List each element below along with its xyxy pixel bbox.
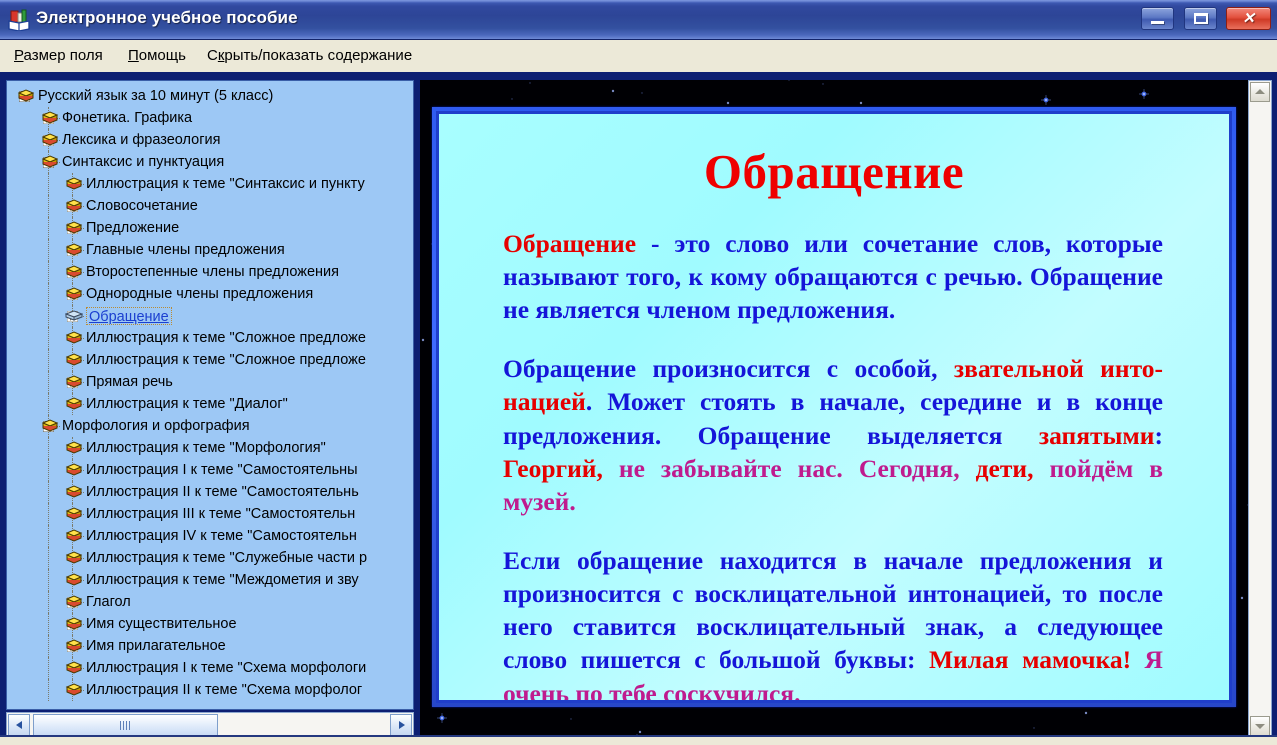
book-icon (65, 547, 83, 569)
tree-item[interactable]: Имя существительное (7, 613, 414, 635)
minimize-button[interactable] (1141, 7, 1174, 30)
tree-item-label: Второстепенные члены предложения (86, 261, 339, 283)
window-bottom-strip (0, 735, 1277, 745)
tree-item[interactable]: Иллюстрация I к теме "Схема морфологи (7, 657, 414, 679)
book-icon (41, 107, 59, 129)
tree-item-label: Иллюстрация III к теме "Самостоятельн (86, 503, 355, 525)
scroll-up-button[interactable] (1250, 82, 1270, 102)
book-icon (41, 415, 59, 437)
tree-item[interactable]: Иллюстрация к теме "Служебные части р (7, 547, 414, 569)
client-area: Русский язык за 10 минут (5 класс)Фонети… (0, 72, 1277, 745)
contents-tree: Русский язык за 10 минут (5 класс)Фонети… (7, 81, 414, 701)
book-icon (65, 503, 83, 525)
close-icon: ✕ (1227, 8, 1270, 29)
tree-item-label: Глагол (86, 591, 131, 613)
book-icon (65, 679, 83, 701)
tree-item-label: Однородные члены предложения (86, 283, 313, 305)
tree-item[interactable]: Иллюстрация к теме "Синтаксис и пункту (7, 173, 414, 195)
book-icon (65, 657, 83, 679)
scroll-down-button[interactable] (1250, 716, 1270, 736)
slide-viewport: Обращение Обращение - это слово или соче… (420, 80, 1250, 738)
tree-connector-line (48, 437, 49, 459)
tree-item[interactable]: Предложение (7, 217, 414, 239)
menu-bar: Размер поля Помощь Скрыть/показать содер… (0, 40, 1277, 72)
menu-toggle-contents[interactable]: Скрыть/показать содержание (203, 45, 416, 66)
book-icon (65, 613, 83, 635)
tree-connector-line (48, 481, 49, 503)
tree-connector-line (48, 679, 49, 701)
tree-item-label: Иллюстрация II к теме "Схема морфолог (86, 679, 362, 701)
book-icon (65, 327, 83, 349)
tree-item[interactable]: Иллюстрация к теме "Сложное предложе (7, 349, 414, 371)
slide-surface: Обращение Обращение - это слово или соче… (439, 114, 1229, 700)
tree-item-label: Иллюстрация к теме "Служебные части р (86, 547, 367, 569)
tree-item-label: Иллюстрация II к теме "Самостоятельнь (86, 481, 359, 503)
tree-connector-line (48, 503, 49, 525)
arrow-right-icon (399, 721, 405, 729)
tree-connector-line (48, 195, 49, 217)
tree-item-label: Предложение (86, 217, 179, 239)
tree-connector-line (48, 349, 49, 371)
book-icon (65, 261, 83, 283)
close-button[interactable]: ✕ (1226, 7, 1271, 30)
tree-connector-line (48, 459, 49, 481)
tree-connector-line (48, 283, 49, 305)
menu-field-size[interactable]: Размер поля (10, 45, 107, 66)
tree-connector-line (48, 613, 49, 635)
text-run-magenta: не забывайте нас. Сегодня, (603, 454, 976, 483)
book-icon (65, 569, 83, 591)
contents-tree-panel[interactable]: Русский язык за 10 минут (5 класс)Фонети… (6, 80, 414, 710)
book-icon (65, 195, 83, 217)
book-icon (17, 85, 35, 107)
open-book-icon (65, 305, 83, 327)
text-run-red: Милая ма­мочка! (929, 645, 1131, 674)
book-icon (65, 635, 83, 657)
tree-item-label: Морфология и орфография (62, 415, 250, 437)
content-vertical-scrollbar[interactable] (1248, 80, 1272, 738)
tree-item-label: Фонетика. Графика (62, 107, 192, 129)
text-run-red: Обращение (503, 229, 636, 258)
tree-connector-line (48, 327, 49, 349)
tree-connector-line (48, 657, 49, 679)
tree-connector-line (48, 547, 49, 569)
tree-item-label: Иллюстрация I к теме "Схема морфологи (86, 657, 366, 679)
tree-item[interactable]: Словосочетание (7, 195, 414, 217)
book-icon (65, 459, 83, 481)
tree-item[interactable]: Лексика и фразеология (7, 129, 414, 151)
tree-item[interactable]: Фонетика. Графика (7, 107, 414, 129)
text-run-red: запятыми (1039, 421, 1155, 450)
tree-item-label: Иллюстрация к теме "Морфология" (86, 437, 326, 459)
tree-item-label: Иллюстрация к теме "Диалог" (86, 393, 288, 415)
application-window: Электронное учебное пособие ✕ Размер пол… (0, 0, 1277, 745)
tree-item-label: Иллюстрация к теме "Сложное предложе (86, 327, 366, 349)
tree-connector-line (48, 569, 49, 591)
text-run-red: Георгий, (503, 454, 603, 483)
arrow-down-icon (1255, 724, 1265, 729)
book-icon (65, 239, 83, 261)
tree-connector-line (48, 635, 49, 657)
text-run-red: дети, (976, 454, 1034, 483)
slide-title: Обращение (473, 146, 1195, 199)
book-icon (65, 349, 83, 371)
maximize-button[interactable] (1184, 7, 1217, 30)
tree-item[interactable]: Синтаксис и пунктуация (7, 151, 414, 173)
horizontal-scroll-thumb[interactable] (33, 714, 218, 736)
paragraph-intonation: Обращение произносится с особой, зватель… (473, 352, 1195, 518)
tree-item[interactable]: Иллюстрация IV к теме "Самостоятельн (7, 525, 414, 547)
book-app-icon (8, 9, 30, 31)
tree-item-label: Иллюстрация к теме "Синтаксис и пункту (86, 173, 365, 195)
tree-item[interactable]: Иллюстрация II к теме "Схема морфолог (7, 679, 414, 701)
tree-connector-line (48, 393, 49, 415)
tree-connector-line (48, 591, 49, 613)
tree-item-label: Иллюстрация I к теме "Самостоятельны (86, 459, 358, 481)
tree-item-label: Иллюстрация IV к теме "Самостоятельн (86, 525, 357, 547)
arrow-up-icon (1255, 89, 1265, 94)
book-icon (65, 437, 83, 459)
tree-connector-line (48, 371, 49, 393)
tree-item-label: Русский язык за 10 минут (5 класс) (38, 85, 273, 107)
scroll-left-button[interactable] (8, 714, 30, 736)
tree-item-label: Обращение (86, 307, 172, 325)
minimize-icon (1151, 21, 1164, 24)
book-icon (65, 481, 83, 503)
tree-item-label: Имя прилагательное (86, 635, 226, 657)
tree-item-label: Словосочетание (86, 195, 198, 217)
tree-item-selected[interactable]: Обращение (7, 305, 414, 327)
tree-item[interactable]: Иллюстрация к теме "Морфология" (7, 437, 414, 459)
tree-item[interactable]: Иллюстрация II к теме "Самостоятельнь (7, 481, 414, 503)
tree-item[interactable]: Глагол (7, 591, 414, 613)
book-icon (65, 371, 83, 393)
slide-inner-frame: Обращение Обращение - это слово или соче… (436, 111, 1232, 703)
tree-item[interactable]: Иллюстрация I к теме "Самостоятельны (7, 459, 414, 481)
tree-item-label: Главные члены предложения (86, 239, 285, 261)
tree-item[interactable]: Русский язык за 10 минут (5 класс) (7, 85, 414, 107)
paragraph-exclamation: Если обращение находится в начале предло… (473, 544, 1195, 700)
tree-item-label: Имя существительное (86, 613, 237, 635)
book-icon (65, 173, 83, 195)
tree-item[interactable]: Иллюстрация к теме "Диалог" (7, 393, 414, 415)
maximize-icon (1194, 13, 1208, 24)
paragraph-definition: Обращение - это слово или сочетание слов… (473, 227, 1195, 326)
tree-item-label: Лексика и фразеология (62, 129, 220, 151)
tree-item[interactable]: Однородные члены предложения (7, 283, 414, 305)
tree-item[interactable]: Иллюстрация к теме "Сложное предложе (7, 327, 414, 349)
slide-body: Обращение - это слово или сочетание слов… (473, 227, 1195, 700)
tree-item[interactable]: Прямая речь (7, 371, 414, 393)
tree-connector-line (48, 305, 49, 327)
tree-connector-line (48, 217, 49, 239)
tree-item-label: Синтаксис и пунктуация (62, 151, 224, 173)
text-run-blue: : (1155, 421, 1164, 450)
tree-item[interactable]: Второстепенные члены предложения (7, 261, 414, 283)
tree-connector-line (48, 173, 49, 195)
tree-connector-line (48, 261, 49, 283)
arrow-left-icon (16, 721, 22, 729)
book-icon (65, 217, 83, 239)
tree-item[interactable]: Иллюстрация III к теме "Самостоятельн (7, 503, 414, 525)
tree-connector-line (48, 239, 49, 261)
book-icon (65, 393, 83, 415)
tree-item[interactable]: Морфология и орфография (7, 415, 414, 437)
tree-connector-line (48, 525, 49, 547)
book-icon (41, 151, 59, 173)
book-icon (65, 591, 83, 613)
book-icon (41, 129, 59, 151)
tree-item[interactable]: Иллюстрация к теме "Междометия и зву (7, 569, 414, 591)
grip-icon (120, 721, 132, 730)
tree-item[interactable]: Имя прилагательное (7, 635, 414, 657)
title-bar: Электронное учебное пособие ✕ (0, 0, 1277, 40)
tree-item[interactable]: Главные члены предложения (7, 239, 414, 261)
menu-help[interactable]: Помощь (124, 45, 190, 66)
book-icon (65, 283, 83, 305)
scroll-right-button[interactable] (390, 714, 412, 736)
tree-item-label: Иллюстрация к теме "Сложное предложе (86, 349, 366, 371)
book-icon (65, 525, 83, 547)
window-title: Электронное учебное пособие (36, 8, 298, 28)
tree-item-label: Иллюстрация к теме "Междометия и зву (86, 569, 359, 591)
slide-frame: Обращение Обращение - это слово или соче… (432, 107, 1236, 707)
tree-item-label: Прямая речь (86, 371, 173, 393)
window-controls: ✕ (1136, 7, 1271, 32)
text-run-blue: Обращение произносится с особой, (503, 354, 954, 383)
